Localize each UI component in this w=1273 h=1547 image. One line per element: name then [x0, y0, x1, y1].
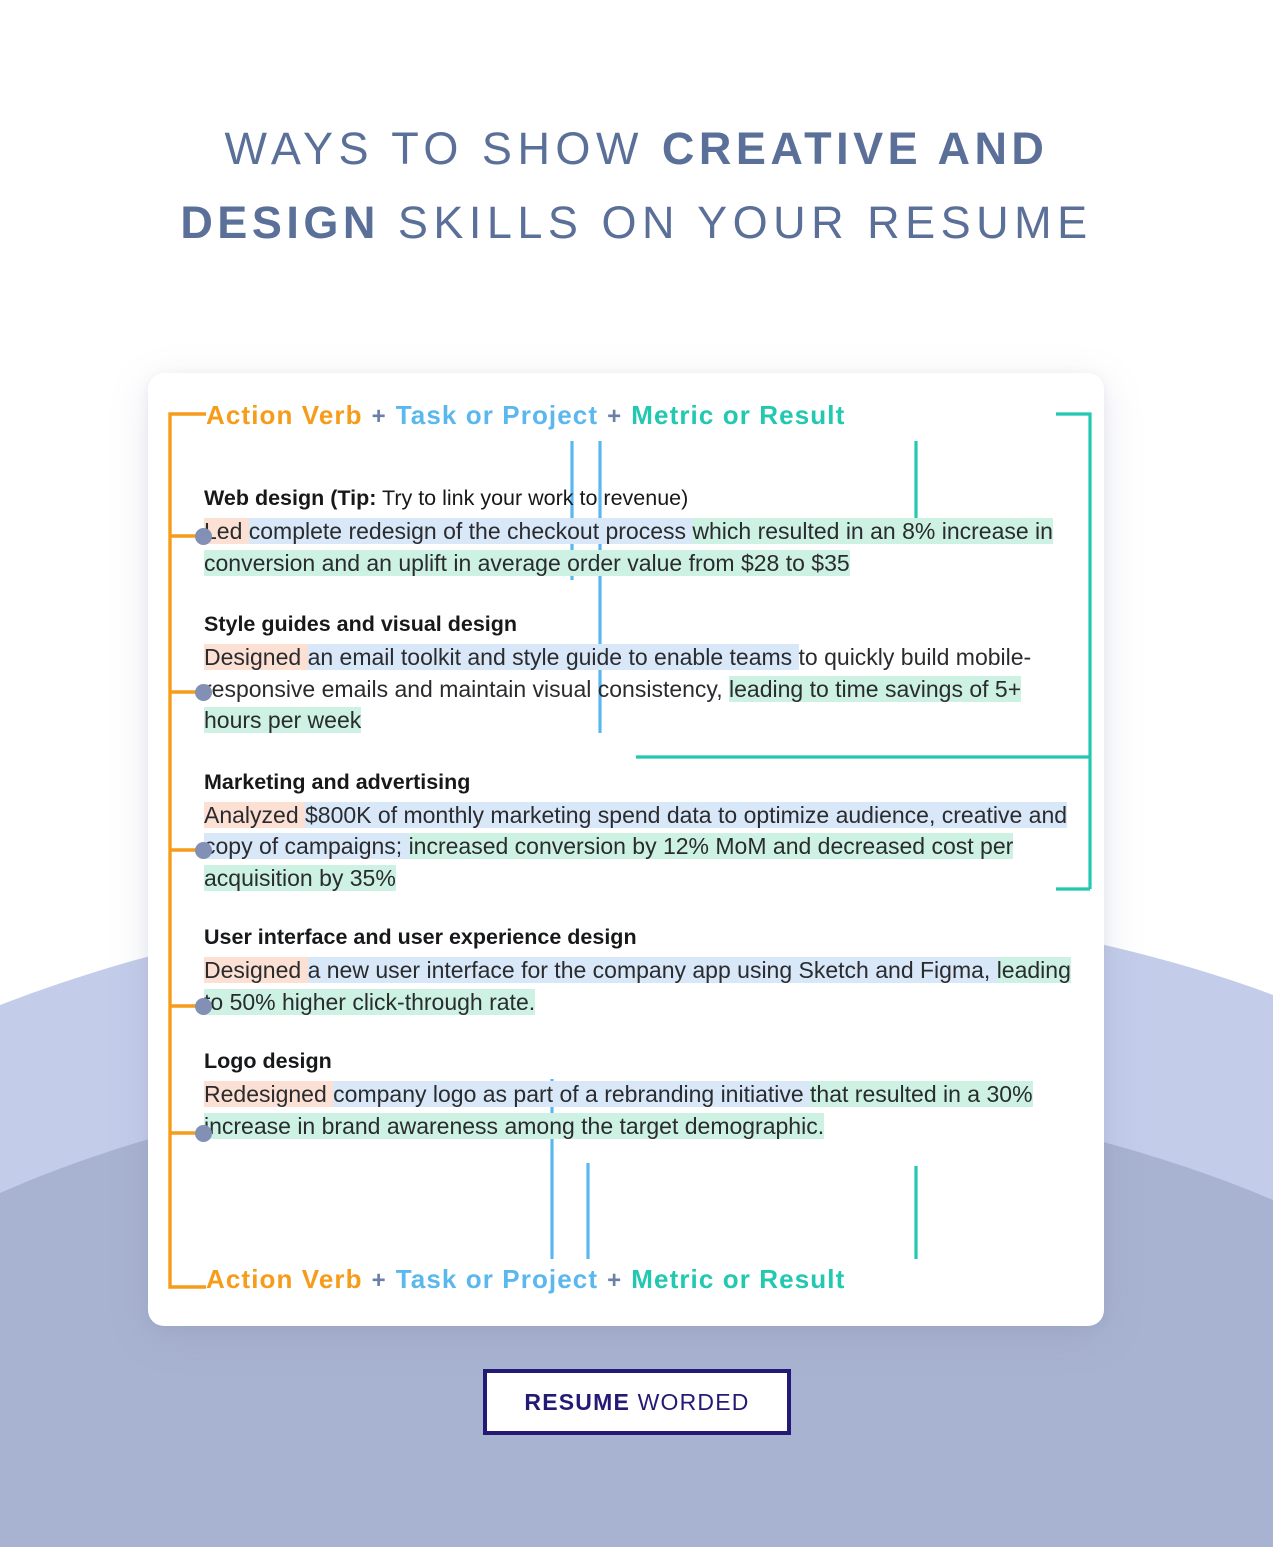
bullet-block-style-guides: Style guides and visual design Designed …: [204, 609, 1074, 737]
legend-top-plus-2: +: [598, 403, 631, 430]
segment-task-project: company logo as part of a rebranding ini…: [333, 1081, 810, 1107]
bullet-heading-bold: Style guides and visual design: [204, 612, 517, 636]
resume-worded-logo[interactable]: RESUME WORDED: [483, 1369, 791, 1435]
bullet-dot-2: [195, 684, 212, 701]
bullet-dot-5: [195, 1125, 212, 1142]
page-title-line-1-bold: CREATIVE AND: [662, 123, 1049, 174]
bullet-heading: User interface and user experience desig…: [204, 922, 1074, 952]
legend-top-metric-result: Metric or Result: [631, 400, 845, 430]
page-title-line-1: WAYS TO SHOW CREATIVE AND: [0, 112, 1273, 186]
logo-text: RESUME WORDED: [524, 1389, 749, 1416]
bullet-block-logo-design: Logo design Redesigned company logo as p…: [204, 1046, 1074, 1142]
spacer: [204, 894, 1074, 922]
bullet-dot-3: [195, 842, 212, 859]
bullet-body: Led complete redesign of the checkout pr…: [204, 516, 1074, 579]
legend-bottom-task-project: Task or Project: [396, 1264, 598, 1294]
legend-bottom-plus-1: +: [363, 1267, 396, 1294]
bullet-list: Web design (Tip: Try to link your work t…: [204, 483, 1074, 1142]
page-title-line-2: DESIGN SKILLS ON YOUR RESUME: [0, 186, 1273, 260]
page-title: WAYS TO SHOW CREATIVE AND DESIGN SKILLS …: [0, 112, 1273, 260]
bullet-heading-bold: Logo design: [204, 1049, 332, 1073]
page-title-line-2-normal: SKILLS ON YOUR RESUME: [380, 197, 1093, 248]
segment-action-verb: Analyzed: [204, 802, 305, 828]
bullet-body: Redesigned company logo as part of a reb…: [204, 1079, 1074, 1142]
legend-top-action-verb: Action Verb: [206, 400, 363, 430]
legend-bottom-metric-result: Metric or Result: [631, 1264, 845, 1294]
segment-action-verb: Designed: [204, 644, 308, 670]
page-title-line-2-bold: DESIGN: [180, 197, 380, 248]
bullet-block-web-design: Web design (Tip: Try to link your work t…: [204, 483, 1074, 579]
bullet-dot-1: [195, 528, 212, 545]
segment-action-verb: Redesigned: [204, 1081, 333, 1107]
segment-task-project: an email toolkit and style guide to enab…: [308, 644, 799, 670]
bullet-heading-bold: Web design (Tip:: [204, 486, 376, 510]
legend-bottom: Action Verb+Task or Project+Metric or Re…: [206, 1264, 1066, 1295]
bullet-heading: Style guides and visual design: [204, 609, 1074, 639]
spacer: [204, 737, 1074, 767]
bullet-dot-4: [195, 998, 212, 1015]
logo-text-bold: RESUME: [524, 1389, 630, 1415]
segment-action-verb: Designed: [204, 957, 308, 983]
legend-bottom-plus-2: +: [598, 1267, 631, 1294]
bullet-heading-bold: User interface and user experience desig…: [204, 925, 637, 949]
legend-bottom-action-verb: Action Verb: [206, 1264, 363, 1294]
segment-task-project: a new user interface for the company app…: [308, 957, 997, 983]
bullet-body: Designed a new user interface for the co…: [204, 955, 1074, 1018]
bullet-block-ui-ux: User interface and user experience desig…: [204, 922, 1074, 1018]
spacer: [204, 579, 1074, 609]
bullet-body: Designed an email toolkit and style guid…: [204, 642, 1074, 737]
logo-text-regular: WORDED: [630, 1389, 750, 1415]
bullet-heading: Logo design: [204, 1046, 1074, 1076]
bullet-heading: Marketing and advertising: [204, 767, 1074, 797]
bullet-heading-bold: Marketing and advertising: [204, 770, 470, 794]
bullet-heading: Web design (Tip: Try to link your work t…: [204, 483, 1074, 513]
bullet-heading-regular: Try to link your work to revenue): [376, 486, 688, 510]
bullet-body: Analyzed $800K of monthly marketing spen…: [204, 800, 1074, 895]
legend-top-plus-1: +: [363, 403, 396, 430]
resume-bullets-card: Action Verb+Task or Project+Metric or Re…: [148, 373, 1104, 1326]
legend-top: Action Verb+Task or Project+Metric or Re…: [206, 400, 1066, 431]
bullet-block-marketing: Marketing and advertising Analyzed $800K…: [204, 767, 1074, 895]
page-title-line-1-normal: WAYS TO SHOW: [225, 123, 662, 174]
legend-top-task-project: Task or Project: [396, 400, 598, 430]
segment-task-project: complete redesign of the checkout proces…: [249, 518, 693, 544]
spacer: [204, 1018, 1074, 1046]
